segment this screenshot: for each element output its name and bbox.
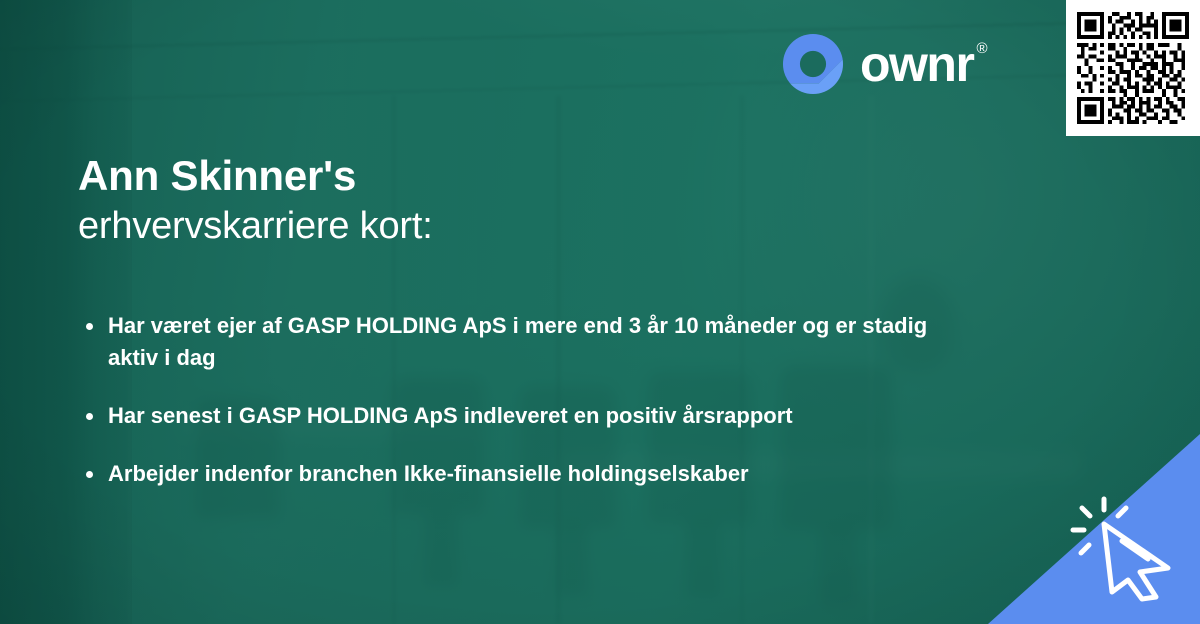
bullet-dot-icon — [86, 471, 93, 478]
registered-trademark-symbol: ® — [976, 41, 987, 56]
ownr-wordmark-text: ownr — [860, 39, 973, 89]
bullet-dot-icon — [86, 413, 93, 420]
page-subtitle: erhvervskarriere kort: — [78, 205, 433, 248]
business-card-banner: ownr ® Ann Skinner's erhvervskarriere ko… — [0, 0, 1200, 624]
list-item-text: Arbejder indenfor branchen Ikke-finansie… — [108, 461, 749, 486]
list-item: Har været ejer af GASP HOLDING ApS i mer… — [78, 310, 978, 374]
list-item-text: Har senest i GASP HOLDING ApS indleveret… — [108, 403, 793, 428]
qr-code-panel[interactable] — [1066, 0, 1200, 136]
list-item-text: Har været ejer af GASP HOLDING ApS i mer… — [108, 313, 927, 370]
qr-code-icon — [1077, 12, 1189, 124]
mouse-cursor-click-icon — [1070, 496, 1182, 602]
person-name: Ann Skinner's — [78, 152, 433, 199]
ownr-logo[interactable]: ownr ® — [782, 33, 988, 95]
ownr-wordmark: ownr ® — [860, 39, 988, 89]
ownr-swirl-circle-icon — [782, 33, 844, 95]
list-item: Arbejder indenfor branchen Ikke-finansie… — [78, 458, 978, 490]
list-item: Har senest i GASP HOLDING ApS indleveret… — [78, 400, 978, 432]
page-title: Ann Skinner's erhvervskarriere kort: — [78, 152, 433, 248]
career-facts-list: Har været ejer af GASP HOLDING ApS i mer… — [78, 310, 978, 490]
bullet-dot-icon — [86, 323, 93, 330]
